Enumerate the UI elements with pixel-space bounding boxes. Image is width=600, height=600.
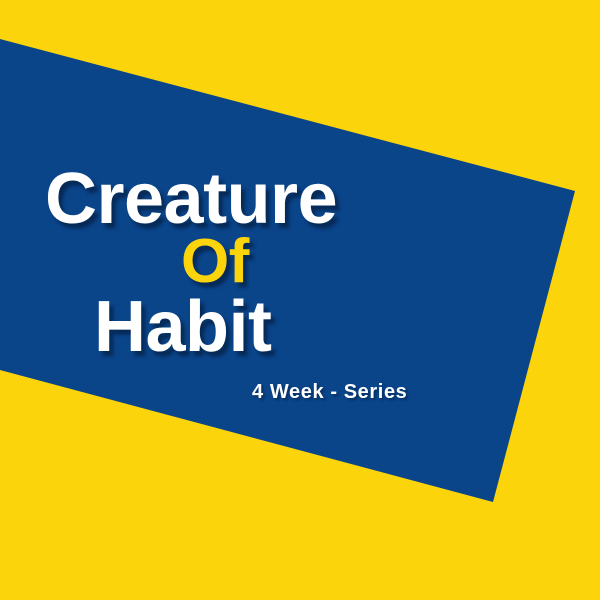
title-line-creature: Creature	[45, 163, 337, 235]
title-line-of: Of	[181, 231, 249, 293]
title-block: Creature Of Habit 4 Week - Series	[0, 0, 600, 600]
series-subtitle: 4 Week - Series	[252, 381, 407, 404]
title-line-habit: Habit	[94, 291, 272, 363]
poster-canvas: Creature Of Habit 4 Week - Series	[0, 0, 600, 600]
